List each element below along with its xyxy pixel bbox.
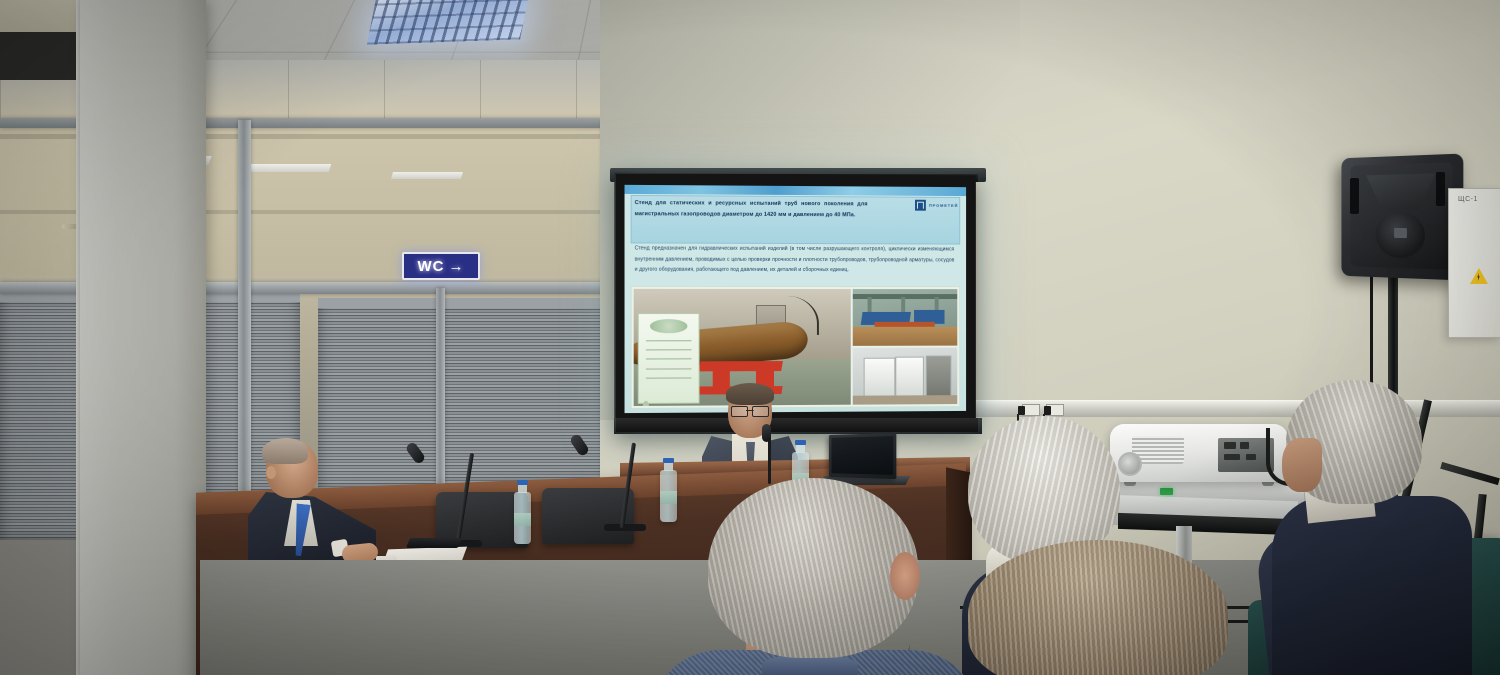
empty-chair[interactable] [542,488,634,544]
presenter-laptop[interactable] [829,433,896,479]
speaker-handle [1436,172,1445,206]
column-top-panel [0,0,82,34]
arrow-right-icon: → [449,258,465,275]
cabinet-label: ЩС-1 [1458,196,1478,203]
slide-photo-column [853,289,957,405]
audience-member-navy-suit [1272,380,1472,675]
slide-photo-machinery [853,289,957,346]
audience-member-blue-jacket [650,478,980,675]
slide-photo-cabinets [853,348,957,405]
office-light [249,164,332,172]
wc-sign: WC → [402,252,480,280]
status-led-icon [1160,488,1173,495]
structural-column [80,0,206,675]
microphone-icon [762,424,771,442]
slide-photo-certificate [638,313,699,404]
water-bottle[interactable] [514,492,531,544]
laptop-screen [832,436,894,475]
speaker-cable [1370,276,1393,396]
panel-member-hair [262,438,308,464]
slide-body-text: Стенд предназначен для гидравлических ис… [635,243,955,275]
electrical-cabinet[interactable] [1448,188,1500,338]
ceiling-light-panel [367,0,529,45]
audience-body [1272,496,1472,675]
prometey-logo-icon [915,200,926,211]
projector-port[interactable] [1224,442,1236,449]
speaker-badge [1394,228,1407,238]
wall-dark-recess [0,32,84,80]
projector-port[interactable] [1246,454,1256,460]
presenter-glasses [731,406,769,415]
microphone-base [604,524,646,531]
slide-logo-text: ПРОМЕТЕЙ [929,203,958,208]
wc-sign-label: WC [418,258,445,275]
audience-member-fair-haired [968,540,1228,675]
conference-room-photo: WC → ЩС-1 Стенд для статических [0,0,1500,675]
slide-title: Стенд для статических и ресурсных испыта… [635,198,868,220]
audience-head [708,478,918,658]
panel-member-seated [248,440,388,570]
slide-logo: ПРОМЕТЕЙ [915,200,958,211]
screen-surface: Стенд для статических и ресурсных испыта… [625,185,967,413]
projector-port[interactable] [1240,442,1249,449]
wall-pa-speaker [1341,153,1463,280]
office-light [391,172,463,179]
audience-head [968,540,1228,675]
mobile-phone[interactable] [406,538,462,548]
presenter-hair [726,383,774,405]
projector-port[interactable] [1224,454,1240,460]
speaker-handle [1350,178,1359,214]
audience-face [1282,438,1322,492]
panel-member-ear [266,466,276,479]
speaker-horn [1366,173,1435,209]
screen-bottom-bar [614,418,982,434]
audience-ear [890,552,920,600]
presentation-slide: Стенд для статических и ресурсных испыта… [625,185,967,413]
high-voltage-warning-icon [1470,268,1488,284]
